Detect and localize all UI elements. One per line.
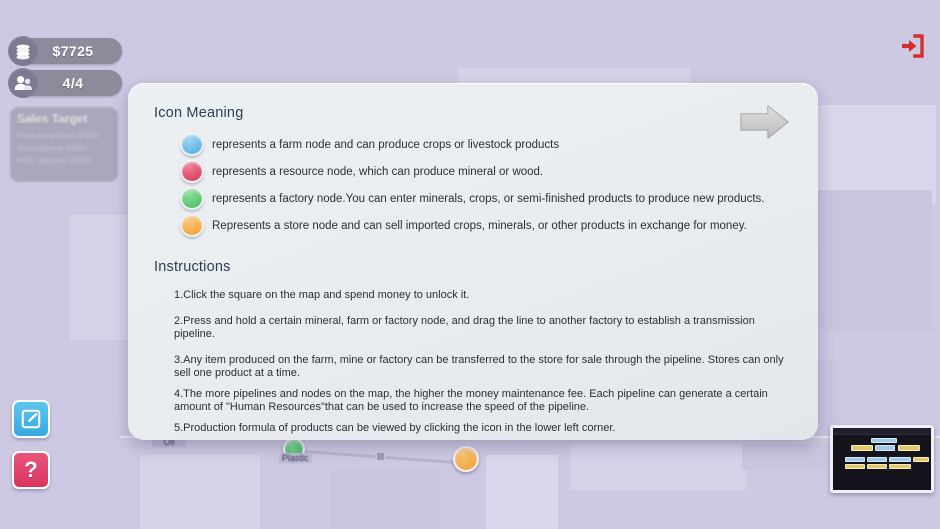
factory-node-icon — [180, 187, 204, 210]
map-plate — [486, 455, 558, 529]
minimap-block — [845, 464, 865, 469]
sales-target-title: Sales Target — [17, 112, 111, 126]
icon-legend-row: represents a factory node.You can enter … — [154, 185, 792, 212]
sales-target-panel: Sales Target Featureophone 0/300 Smartph… — [10, 107, 118, 182]
instruction-item: 2.Press and hold a certain mineral, farm… — [174, 315, 792, 342]
money-value: $7725 — [38, 43, 108, 59]
map-plate — [140, 455, 260, 529]
icon-legend-row: Represents a store node and can sell imp… — [154, 212, 792, 239]
coins-icon — [8, 36, 38, 66]
resource-node-icon — [180, 160, 204, 183]
tutorial-dialog: Icon Meaning represents a farm node and … — [128, 83, 818, 440]
map-plate — [812, 190, 932, 330]
sales-target-row: Featureophone 0/300 — [17, 129, 111, 142]
exit-button[interactable] — [894, 28, 930, 64]
store-node[interactable] — [453, 446, 479, 472]
population-value: 4/4 — [38, 75, 108, 91]
game-screen: Plastic Oil $7725 4/4 Sales Target — [0, 0, 940, 529]
sales-target-row: HUD glasses 0/100 — [17, 154, 111, 167]
farm-node-icon — [180, 133, 204, 156]
instruction-item: 5.Production formula of products can be … — [174, 422, 792, 436]
people-icon — [8, 68, 38, 98]
question-mark-icon: ? — [24, 459, 37, 481]
minimap-block — [867, 457, 887, 462]
instructions-title: Instructions — [154, 259, 792, 275]
store-node-icon — [180, 214, 204, 237]
edit-pencil-icon — [20, 408, 42, 430]
minimap-block — [913, 457, 929, 462]
icon-legend-row: represents a resource node, which can pr… — [154, 158, 792, 185]
icon-legend-text: represents a resource node, which can pr… — [212, 165, 543, 179]
icon-legend-text: represents a farm node and can produce c… — [212, 138, 559, 152]
icon-legend-text: Represents a store node and can sell imp… — [212, 219, 747, 233]
factory-node-plastic-label: Plastic — [279, 453, 312, 463]
population-indicator: 4/4 — [10, 70, 122, 96]
icon-legend-row: represents a farm node and can produce c… — [154, 131, 792, 158]
next-page-button[interactable] — [738, 101, 792, 143]
minimap-block — [898, 445, 920, 451]
minimap-block — [889, 464, 911, 469]
exit-icon — [897, 31, 927, 61]
minimap-titlebar — [833, 428, 931, 435]
formula-button[interactable] — [12, 400, 50, 438]
help-button[interactable]: ? — [12, 451, 50, 489]
minimap-block — [845, 457, 865, 462]
money-indicator: $7725 — [10, 38, 122, 64]
instruction-item: 1.Click the square on the map and spend … — [174, 289, 792, 303]
instruction-item: 4.The more pipelines and nodes on the ma… — [174, 388, 792, 415]
minimap-block — [867, 464, 887, 469]
arrow-right-icon — [738, 101, 792, 143]
pipeline — [305, 450, 470, 465]
map-plate — [330, 470, 440, 529]
icon-meaning-title: Icon Meaning — [154, 105, 792, 121]
sales-target-row: Smartphone 0/300 — [17, 142, 111, 155]
minimap[interactable] — [830, 425, 934, 493]
instruction-item: 3.Any item produced on the farm, mine or… — [174, 354, 792, 381]
icon-legend-text: represents a factory node.You can enter … — [212, 192, 765, 206]
minimap-block — [889, 457, 911, 462]
minimap-block — [851, 445, 873, 451]
pipeline-node-marker — [376, 452, 385, 461]
minimap-block — [871, 438, 897, 443]
minimap-block — [875, 445, 895, 451]
